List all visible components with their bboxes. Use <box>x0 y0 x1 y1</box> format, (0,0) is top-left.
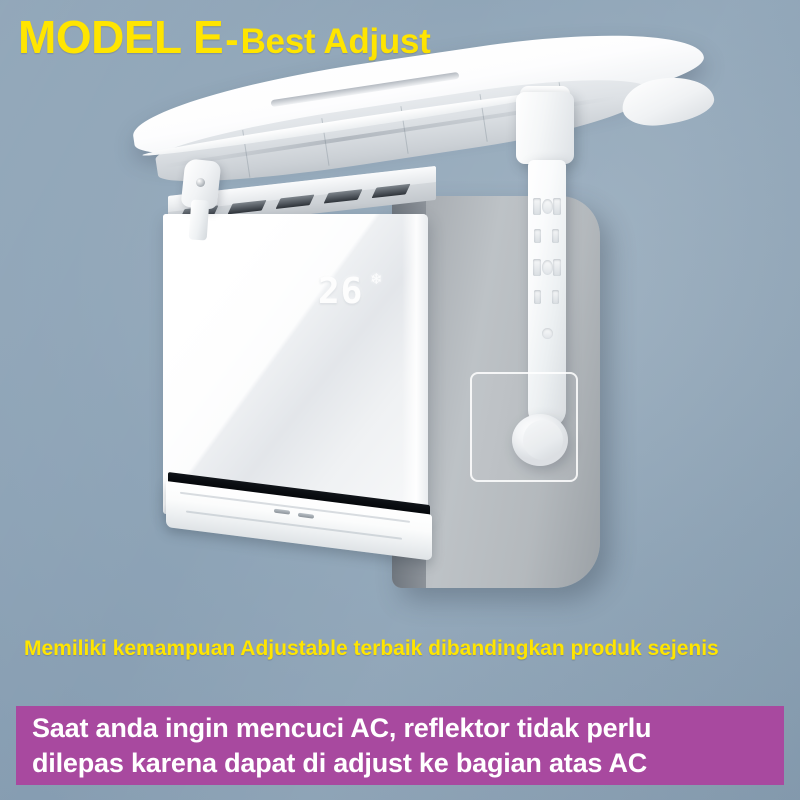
arm-notch-round <box>542 199 553 214</box>
reflector-panel <box>130 56 706 174</box>
bottom-banner: Saat anda ingin mencuci AC, reflektor ti… <box>16 706 784 785</box>
arm-notch <box>533 259 541 276</box>
tagline-text: Memiliki kemampuan Adjustable terbaik di… <box>24 637 719 661</box>
temperature-value: 26 <box>318 274 363 310</box>
banner-line-2: dilepas karena dapat di adjust ke bagian… <box>32 746 768 781</box>
arm-notch <box>552 229 559 243</box>
pivot-callout-box <box>470 372 578 482</box>
arm-notch <box>553 198 561 215</box>
arm-screw-hole <box>542 328 553 339</box>
ac-front-diagonal-highlight <box>163 214 393 514</box>
page-title: MODEL E-Best Adjust <box>18 14 430 60</box>
louver-notch <box>274 509 290 515</box>
arm-notch <box>552 290 559 304</box>
louver-notch <box>298 513 314 519</box>
product-marketing-image: MODEL E-Best Adjust 26 ❄ <box>0 0 800 800</box>
ac-temperature-display: 26 ❄ <box>318 272 388 324</box>
ac-unit-front-panel <box>163 214 428 514</box>
arm-notch <box>533 198 541 215</box>
arm-upper-joint-housing <box>516 92 574 164</box>
snowflake-icon: ❄ <box>370 272 383 287</box>
arm-notch <box>534 290 541 304</box>
arm-notch <box>553 259 561 276</box>
ac-front-right-edge <box>402 214 428 514</box>
arm-notch-round <box>542 260 553 275</box>
arm-notch <box>534 229 541 243</box>
left-hinge-screw <box>196 178 205 187</box>
left-hinge-stem <box>189 199 210 240</box>
banner-line-1: Saat anda ingin mencuci AC, reflektor ti… <box>32 711 768 746</box>
